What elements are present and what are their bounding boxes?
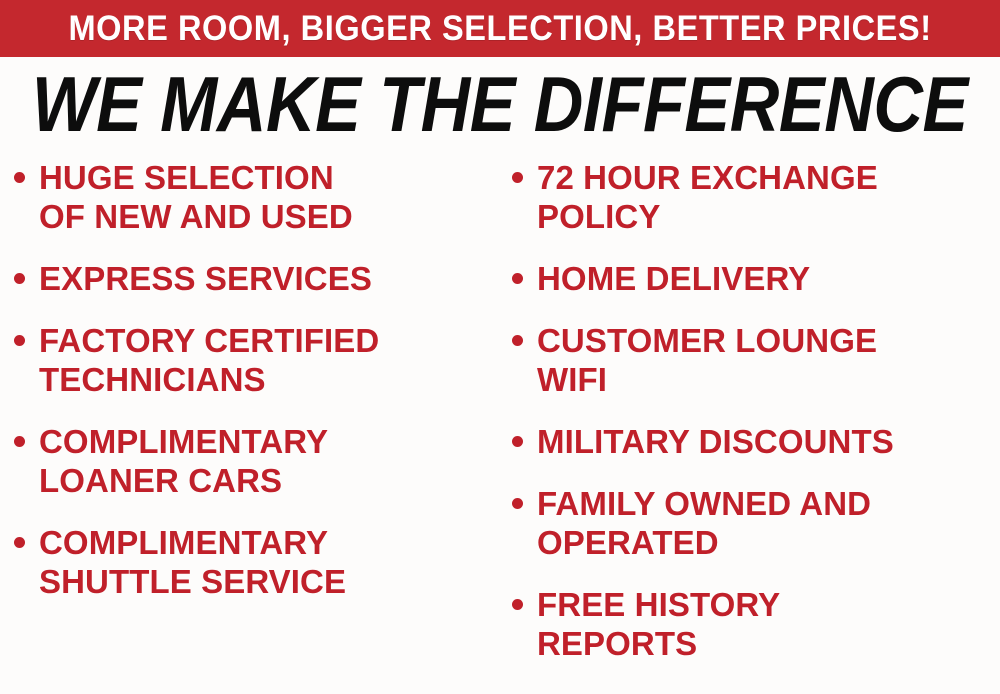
list-item-label: FREE HISTORY REPORTS: [537, 585, 1000, 663]
list-item: 72 HOUR EXCHANGE POLICY: [512, 158, 1000, 236]
top-banner: MORE ROOM, BIGGER SELECTION, BETTER PRIC…: [0, 0, 1000, 57]
list-item-label: 72 HOUR EXCHANGE POLICY: [537, 158, 1000, 236]
list-item: FAMILY OWNED AND OPERATED: [512, 484, 1000, 562]
list-item-label: COMPLIMENTARY SHUTTLE SERVICE: [39, 523, 506, 601]
benefits-columns: HUGE SELECTION OF NEW AND USED EXPRESS S…: [0, 158, 1000, 694]
list-item: COMPLIMENTARY SHUTTLE SERVICE: [14, 523, 506, 601]
list-item-label: EXPRESS SERVICES: [39, 259, 506, 298]
bullet-dot-icon: [14, 335, 25, 346]
list-item: EXPRESS SERVICES: [14, 259, 506, 298]
list-item-label: HUGE SELECTION OF NEW AND USED: [39, 158, 506, 236]
headline-area: WE MAKE THE DIFFERENCE: [0, 60, 1000, 148]
bullet-dot-icon: [512, 498, 523, 509]
list-item: HOME DELIVERY: [512, 259, 1000, 298]
promo-poster: MORE ROOM, BIGGER SELECTION, BETTER PRIC…: [0, 0, 1000, 694]
bullet-dot-icon: [512, 599, 523, 610]
list-item-label: HOME DELIVERY: [537, 259, 1000, 298]
list-item-label: FAMILY OWNED AND OPERATED: [537, 484, 1000, 562]
bullet-dot-icon: [512, 172, 523, 183]
page-title: WE MAKE THE DIFFERENCE: [32, 65, 968, 143]
benefits-column-right: 72 HOUR EXCHANGE POLICY HOME DELIVERY CU…: [512, 158, 1000, 686]
list-item-label: CUSTOMER LOUNGE WIFI: [537, 321, 1000, 399]
list-item-label: MILITARY DISCOUNTS: [537, 422, 1000, 461]
bullet-dot-icon: [512, 436, 523, 447]
bullet-dot-icon: [14, 436, 25, 447]
list-item: FACTORY CERTIFIED TECHNICIANS: [14, 321, 506, 399]
bullet-dot-icon: [512, 273, 523, 284]
benefits-column-left: HUGE SELECTION OF NEW AND USED EXPRESS S…: [14, 158, 506, 624]
top-banner-text: MORE ROOM, BIGGER SELECTION, BETTER PRIC…: [68, 11, 931, 46]
bullet-dot-icon: [14, 537, 25, 548]
bullet-dot-icon: [512, 335, 523, 346]
list-item-label: FACTORY CERTIFIED TECHNICIANS: [39, 321, 506, 399]
list-item: CUSTOMER LOUNGE WIFI: [512, 321, 1000, 399]
bullet-dot-icon: [14, 172, 25, 183]
bullet-dot-icon: [14, 273, 25, 284]
list-item-label: COMPLIMENTARY LOANER CARS: [39, 422, 506, 500]
list-item: FREE HISTORY REPORTS: [512, 585, 1000, 663]
list-item: MILITARY DISCOUNTS: [512, 422, 1000, 461]
list-item: COMPLIMENTARY LOANER CARS: [14, 422, 506, 500]
list-item: HUGE SELECTION OF NEW AND USED: [14, 158, 506, 236]
